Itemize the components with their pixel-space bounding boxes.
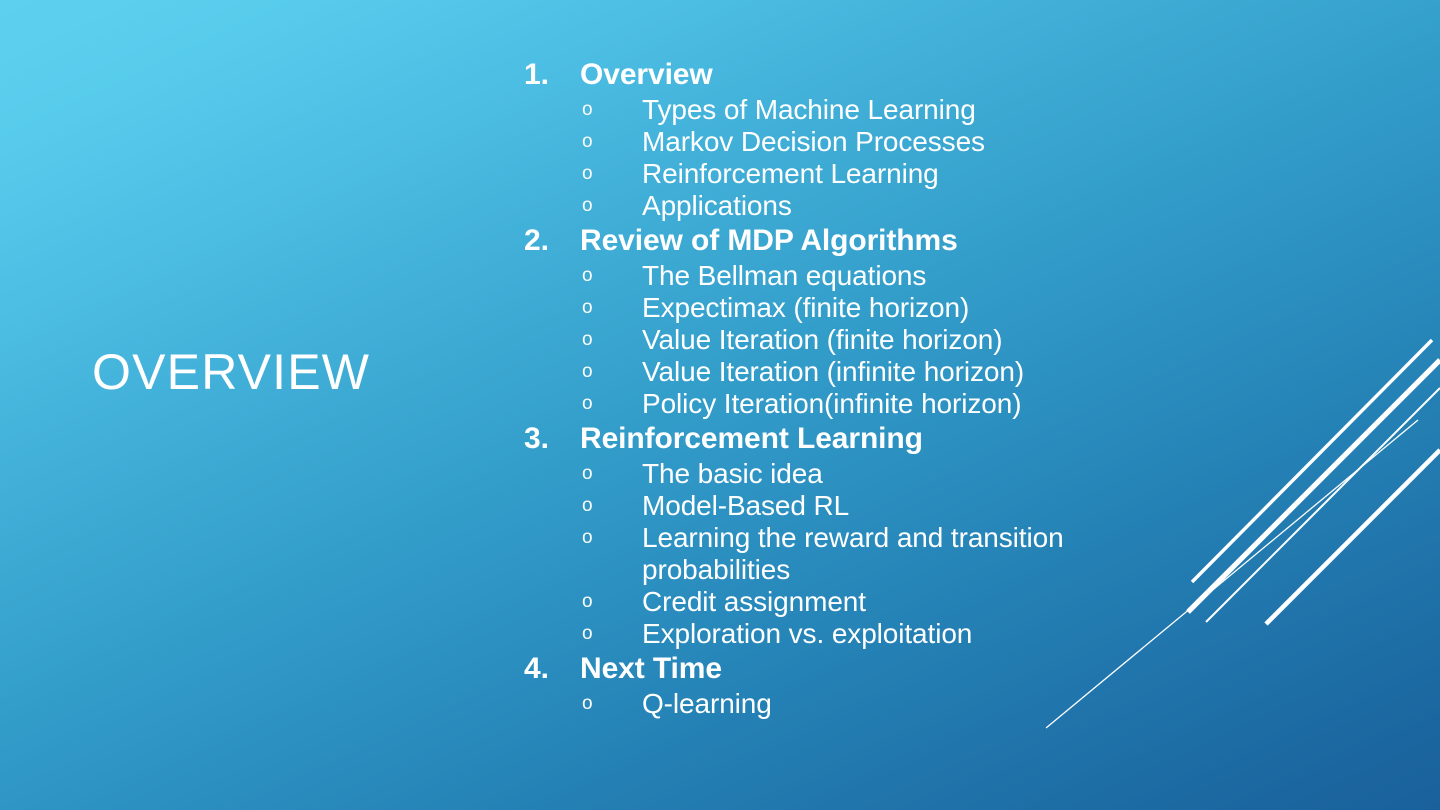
circle-bullet-icon: o bbox=[524, 618, 642, 650]
outline-subitem: o Applications bbox=[524, 190, 1224, 222]
outline-subitem-label: Types of Machine Learning bbox=[642, 94, 1202, 126]
outline-subitem-label: Q-learning bbox=[642, 688, 1202, 720]
outline-subitem-label: Model-Based RL bbox=[642, 490, 1202, 522]
outline-item-2: 2. Review of MDP Algorithms bbox=[524, 222, 1224, 260]
circle-bullet-icon: o bbox=[524, 522, 642, 554]
outline-subitem-label: Policy Iteration(infinite horizon) bbox=[642, 388, 1202, 420]
slide-body-outline: 1. Overview o Types of Machine Learning … bbox=[524, 56, 1224, 720]
outline-item-3: 3. Reinforcement Learning bbox=[524, 420, 1224, 458]
outline-subitem: o Model-Based RL bbox=[524, 490, 1224, 522]
circle-bullet-icon: o bbox=[524, 458, 642, 490]
circle-bullet-icon: o bbox=[524, 490, 642, 522]
outline-subitem: o Value Iteration (infinite horizon) bbox=[524, 356, 1224, 388]
outline-subitem-label: Value Iteration (infinite horizon) bbox=[642, 356, 1202, 388]
outline-subitem-label: Reinforcement Learning bbox=[642, 158, 1202, 190]
outline-heading-2: Review of MDP Algorithms bbox=[580, 222, 1224, 260]
outline-subitem: o The basic idea bbox=[524, 458, 1224, 490]
outline-subitem-label: The basic idea bbox=[642, 458, 1202, 490]
circle-bullet-icon: o bbox=[524, 586, 642, 618]
outline-subitem: o Value Iteration (finite horizon) bbox=[524, 324, 1224, 356]
circle-bullet-icon: o bbox=[524, 126, 642, 158]
page-title: OVERVIEW bbox=[92, 344, 370, 400]
outline-subitem: o Expectimax (finite horizon) bbox=[524, 292, 1224, 324]
outline-number-2: 2. bbox=[524, 222, 580, 260]
outline-subitem: o Markov Decision Processes bbox=[524, 126, 1224, 158]
circle-bullet-icon: o bbox=[524, 190, 642, 222]
outline-subitem: o Types of Machine Learning bbox=[524, 94, 1224, 126]
outline-heading-3: Reinforcement Learning bbox=[580, 420, 1224, 458]
circle-bullet-icon: o bbox=[524, 388, 642, 420]
outline-number-3: 3. bbox=[524, 420, 580, 458]
circle-bullet-icon: o bbox=[524, 260, 642, 292]
outline-subitem-label: Markov Decision Processes bbox=[642, 126, 1202, 158]
circle-bullet-icon: o bbox=[524, 158, 642, 190]
outline-heading-4: Next Time bbox=[580, 650, 1224, 688]
outline-subitem: o Q-learning bbox=[524, 688, 1224, 720]
outline-subitem-label: Credit assignment bbox=[642, 586, 1202, 618]
circle-bullet-icon: o bbox=[524, 688, 642, 720]
outline-number-4: 4. bbox=[524, 650, 580, 688]
outline-subitem: o Credit assignment bbox=[524, 586, 1224, 618]
outline-number-1: 1. bbox=[524, 56, 580, 94]
outline-subitem-label: Expectimax (finite horizon) bbox=[642, 292, 1202, 324]
circle-bullet-icon: o bbox=[524, 356, 642, 388]
outline-subitem-label: Exploration vs. exploitation bbox=[642, 618, 1202, 650]
outline-subitem-label: Applications bbox=[642, 190, 1202, 222]
outline-item-1: 1. Overview bbox=[524, 56, 1224, 94]
circle-bullet-icon: o bbox=[524, 324, 642, 356]
outline-subitem: o Exploration vs. exploitation bbox=[524, 618, 1224, 650]
outline-subitem-label: The Bellman equations bbox=[642, 260, 1202, 292]
outline-subitem: o The Bellman equations bbox=[524, 260, 1224, 292]
outline-subitem: o Policy Iteration(infinite horizon) bbox=[524, 388, 1224, 420]
outline-subitem-label: Value Iteration (finite horizon) bbox=[642, 324, 1202, 356]
outline-item-4: 4. Next Time bbox=[524, 650, 1224, 688]
outline-subitem-label: Learning the reward and transition proba… bbox=[642, 522, 1202, 586]
presentation-slide: OVERVIEW 1. Overview o Types of Machine … bbox=[0, 0, 1440, 810]
circle-bullet-icon: o bbox=[524, 94, 642, 126]
circle-bullet-icon: o bbox=[524, 292, 642, 324]
outline-heading-1: Overview bbox=[580, 56, 1224, 94]
outline-subitem: o Reinforcement Learning bbox=[524, 158, 1224, 190]
outline-subitem: o Learning the reward and transition pro… bbox=[524, 522, 1224, 586]
